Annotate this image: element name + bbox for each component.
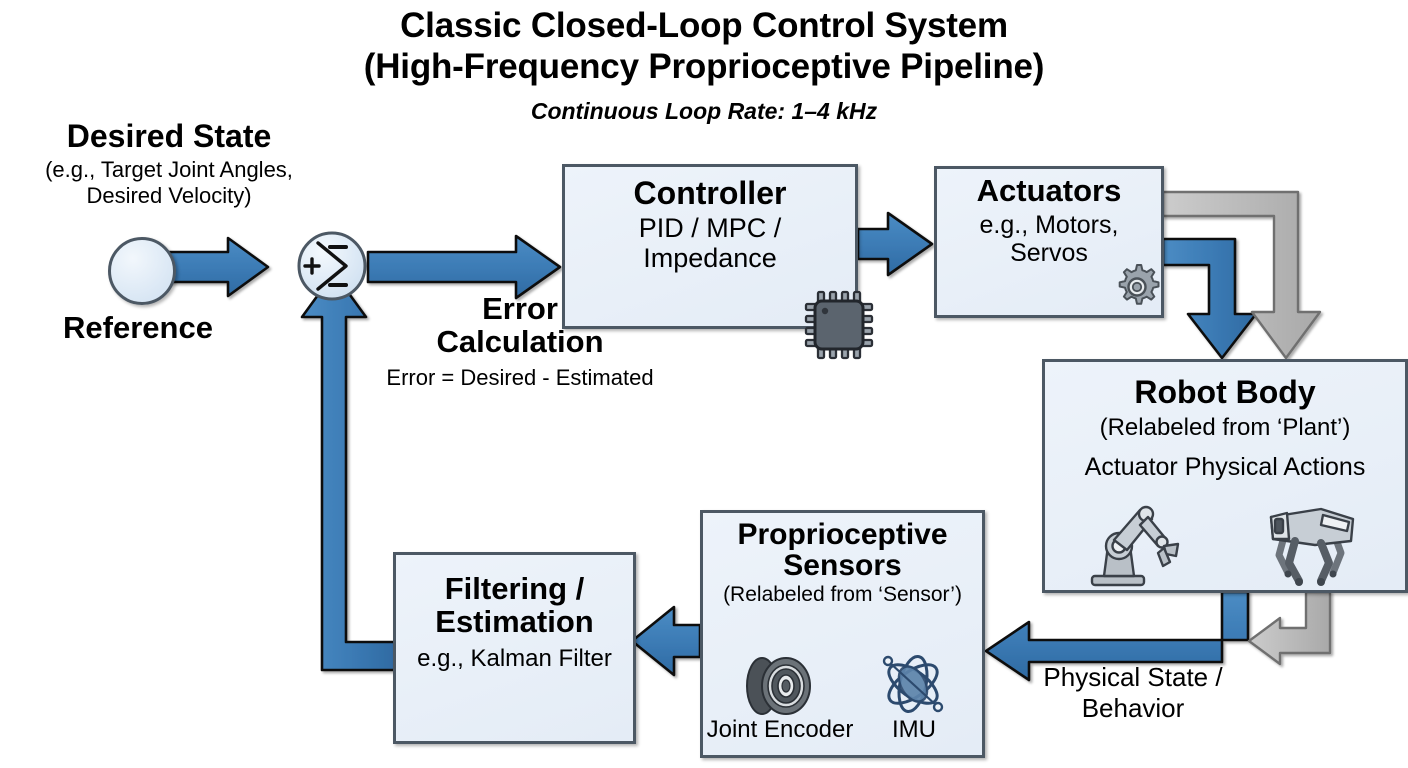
robot-body-sub-1: (Relabeled from ‘Plant’)	[1045, 415, 1405, 441]
desired-state-detail-1: (e.g., Target Joint Angles,	[0, 157, 344, 183]
gear-icon	[1112, 262, 1162, 312]
actuators-sub-1: e.g., Motors,	[937, 212, 1161, 239]
arrow-sensors-to-filtering	[632, 607, 700, 675]
diagram-canvas: Classic Closed-Loop Control System (High…	[0, 0, 1408, 768]
robot-body-title: Robot Body	[1045, 376, 1405, 410]
reference-label: Reference	[34, 310, 242, 346]
actuators-title: Actuators	[937, 175, 1161, 208]
error-heading-2: Calculation	[350, 325, 690, 358]
desired-state-detail-2: Desired Velocity)	[0, 183, 344, 209]
sensors-title-2: Sensors	[703, 550, 982, 582]
joint-encoder-icon	[740, 655, 816, 717]
reference-node[interactable]	[108, 237, 176, 305]
controller-sub-2: Impedance	[565, 244, 855, 273]
sensors-sub-1: (Relabeled from ‘Sensor’)	[703, 584, 982, 606]
microchip-icon	[801, 287, 877, 363]
controller-title: Controller	[565, 177, 855, 211]
imu-gyroscope-icon	[877, 650, 949, 718]
physical-state-line-2: Behavior	[1008, 693, 1258, 724]
arrow-gray-return-to-blue	[1249, 592, 1330, 664]
imu-label: IMU	[855, 716, 973, 744]
sensors-title-1: Proprioceptive	[703, 519, 982, 551]
arrow-actuators-to-robotbody	[1163, 239, 1256, 358]
quadruped-robot-icon	[1255, 497, 1370, 589]
robot-arm-icon	[1078, 500, 1188, 588]
block-filtering-estimation[interactable]: Filtering / Estimation e.g., Kalman Filt…	[393, 552, 636, 744]
physical-state-label: Physical State / Behavior	[1008, 662, 1258, 723]
controller-sub-1: PID / MPC /	[565, 214, 855, 243]
joint-encoder-label: Joint Encoder	[700, 716, 860, 744]
filtering-title-1: Filtering /	[396, 573, 633, 606]
desired-state-heading: Desired State	[0, 118, 344, 155]
physical-state-line-1: Physical State /	[1008, 662, 1258, 693]
robot-body-sub-2: Actuator Physical Actions	[1045, 454, 1405, 481]
arrow-controller-to-actuators	[858, 213, 932, 275]
arrow-sum-to-controller	[368, 236, 560, 298]
filtering-sub-1: e.g., Kalman Filter	[396, 646, 633, 672]
desired-state-group: Desired State (e.g., Target Joint Angles…	[0, 118, 344, 209]
filtering-title-2: Estimation	[396, 606, 633, 639]
arrow-reference-to-sum	[160, 238, 268, 296]
error-formula: Error = Desired - Estimated	[350, 365, 690, 391]
